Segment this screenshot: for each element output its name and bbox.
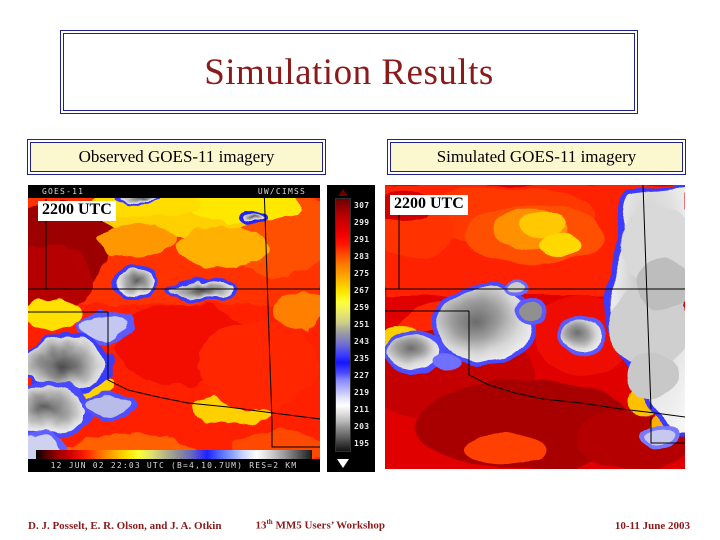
colorbar-tick-251: 251: [354, 320, 369, 329]
observed-header-bar: GOES-11 UW/CIMSS: [28, 185, 320, 198]
simulated-time-label: 2200 UTC: [390, 195, 468, 215]
colorbar-tick-211: 211: [354, 405, 369, 414]
slide-title-box: Simulation Results: [63, 33, 635, 111]
footer-authors: D. J. Posselt, E. R. Olson, and J. A. Ot…: [28, 520, 221, 532]
footer-venue-name: MM5 Users’ Workshop: [273, 520, 385, 532]
footer-venue-number: 13: [255, 520, 266, 532]
colorbar-gradient: [335, 198, 351, 452]
caption-observed-imagery: Observed GOES-11 imagery: [30, 142, 323, 172]
colorbar-tick-227: 227: [354, 371, 369, 380]
observed-color-strip: [36, 450, 312, 459]
colorbar-tick-203: 203: [354, 422, 369, 431]
observed-source-label: GOES-11: [42, 187, 84, 196]
colorbar-tick-243: 243: [354, 337, 369, 346]
simulated-satellite-image: [385, 185, 685, 469]
colorbar-tick-195: 195: [354, 439, 369, 448]
colorbar-tick-235: 235: [354, 354, 369, 363]
caption-observed-label: Observed GOES-11 imagery: [79, 147, 275, 167]
footer-venue: 13th MM5 Users’ Workshop: [255, 518, 385, 532]
caption-simulated-label: Simulated GOES-11 imagery: [437, 147, 637, 167]
colorbar-tick-299: 299: [354, 218, 369, 227]
colorbar-min-arrow-icon: [337, 459, 349, 468]
observed-time-label: 2200 UTC: [38, 201, 116, 221]
observed-satellite-panel: GOES-11 UW/CIMSS 12 JUN 02 22:03 UTC (B=…: [28, 185, 320, 472]
observed-footer-bar: 12 JUN 02 22:03 UTC (B=4,10.7UM) RES=2 K…: [28, 459, 320, 472]
colorbar-tick-267: 267: [354, 286, 369, 295]
colorbar-tick-307: 307: [354, 201, 369, 210]
page-title: Simulation Results: [204, 51, 494, 94]
simulated-satellite-panel: 2200 UTC: [385, 185, 685, 469]
colorbar-max-arrow-icon: [338, 189, 348, 196]
observed-satellite-image: [28, 185, 320, 472]
observed-credit-label: UW/CIMSS: [258, 187, 306, 196]
colorbar-tick-275: 275: [354, 269, 369, 278]
colorbar-panel: 3072992912832752672592512432352272192112…: [327, 185, 375, 472]
footer-date: 10-11 June 2003: [615, 520, 690, 532]
colorbar-tick-291: 291: [354, 235, 369, 244]
caption-simulated-imagery: Simulated GOES-11 imagery: [390, 142, 683, 172]
slide-footer: D. J. Posselt, E. R. Olson, and J. A. Ot…: [28, 518, 690, 532]
colorbar-tick-283: 283: [354, 252, 369, 261]
observed-footer-label: 12 JUN 02 22:03 UTC (B=4,10.7UM) RES=2 K…: [51, 461, 298, 470]
colorbar-tick-259: 259: [354, 303, 369, 312]
colorbar-tick-219: 219: [354, 388, 369, 397]
